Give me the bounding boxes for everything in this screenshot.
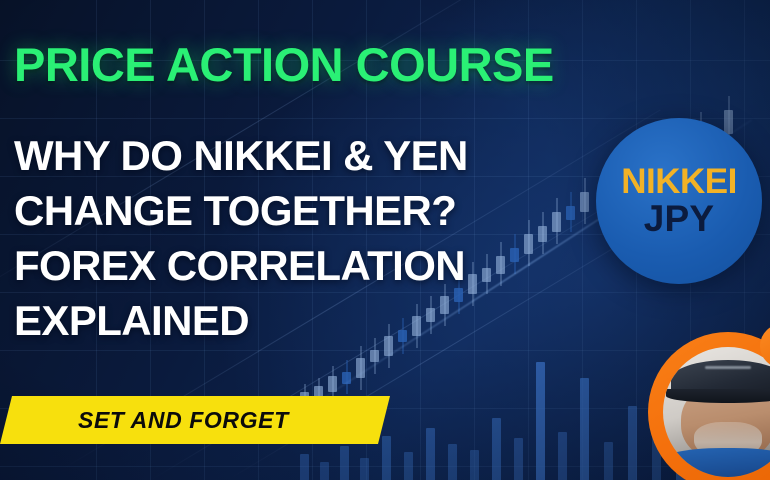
presenter-avatar (648, 332, 770, 480)
headline-line-3: FOREX CORRELATION (14, 238, 599, 293)
cap-logo-icon (705, 366, 751, 370)
avatar-cap-brim (666, 389, 770, 403)
ribbon-label: SET AND FORGET (78, 407, 289, 434)
pair-badge-currency-label: JPY (644, 200, 715, 238)
set-and-forget-ribbon: SET AND FORGET (0, 396, 390, 444)
headline-line-2: CHANGE TOGETHER? (14, 183, 599, 238)
headline-line-1: WHY DO NIKKEI & YEN (14, 128, 599, 183)
headline-block: WHY DO NIKKEI & YEN CHANGE TOGETHER? FOR… (14, 128, 599, 348)
headline-line-4: EXPLAINED (14, 293, 599, 348)
course-kicker: PRICE ACTION COURSE (14, 41, 554, 88)
avatar-shirt (663, 448, 770, 477)
youtube-thumbnail: PRICE ACTION COURSE WHY DO NIKKEI & YEN … (0, 0, 770, 480)
currency-pair-badge: NIKKEI JPY (596, 118, 762, 284)
pair-badge-index-label: NIKKEI (621, 164, 737, 200)
